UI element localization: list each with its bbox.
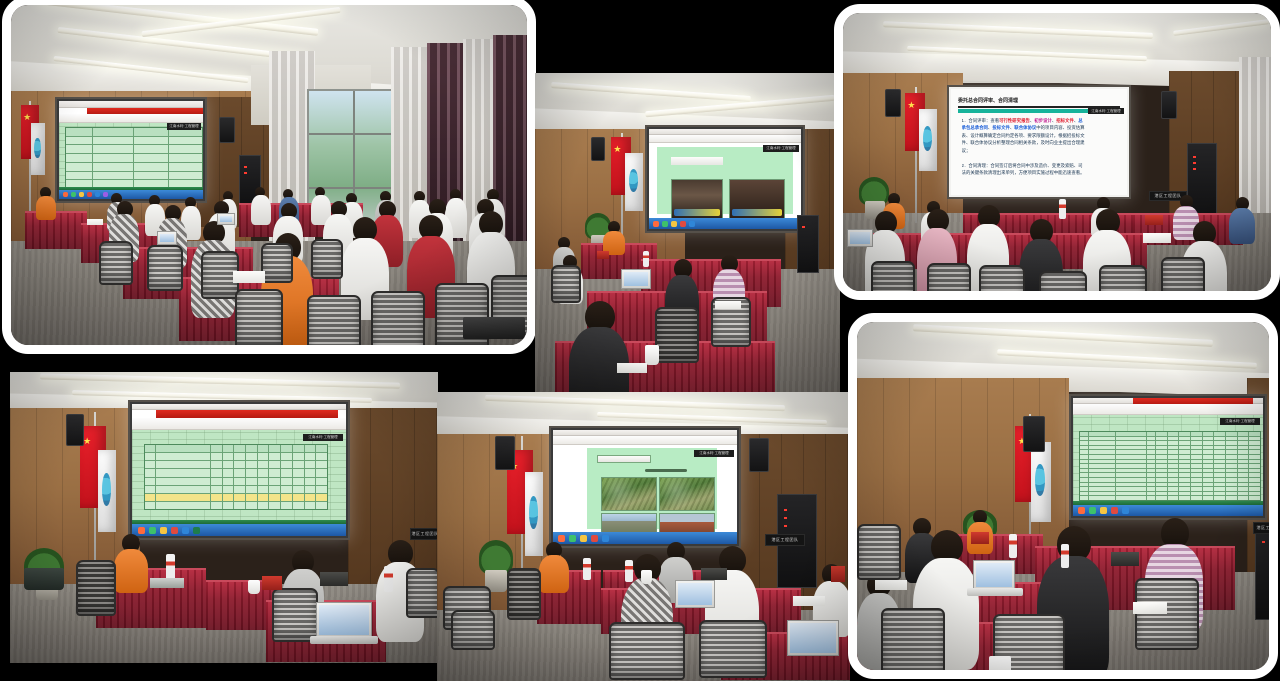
water-bottle	[1059, 199, 1066, 219]
photo-caption-strip	[732, 209, 782, 216]
taskbar-icon[interactable]	[580, 535, 587, 542]
photo-top-center[interactable]: 江南水利·工程管理	[535, 73, 840, 398]
excel-grid	[1073, 415, 1263, 509]
taskbar-icon[interactable]	[671, 221, 677, 227]
notebook	[875, 580, 907, 590]
chair	[655, 307, 699, 363]
notebook	[1143, 233, 1171, 243]
organization-flag	[31, 123, 45, 175]
attendee-foreground	[569, 301, 629, 398]
chair	[507, 568, 541, 620]
photo-caption-strip	[674, 209, 720, 216]
taskbar-icon[interactable]	[63, 192, 68, 197]
torso	[36, 196, 56, 220]
cup	[645, 345, 659, 365]
chair	[235, 289, 283, 345]
chair	[406, 568, 438, 618]
org-flag-logo	[629, 169, 638, 192]
taskbar-icon[interactable]	[171, 527, 178, 534]
slide	[649, 143, 801, 218]
organization-flag	[919, 109, 937, 171]
attendee	[251, 187, 271, 225]
bullet-line: 承包总承合同、投标文件、联合体协议中的项目内容、投资估算	[962, 124, 1119, 131]
screen-content: 江南水利·工程管理	[59, 101, 203, 199]
taskbar-icon[interactable]	[591, 535, 598, 542]
notebook	[617, 363, 647, 373]
excel-data-table	[1079, 431, 1261, 501]
screen-corner-tag: 江南水利·工程管理	[1220, 418, 1260, 425]
slide	[553, 445, 737, 532]
slide-photo-aerial	[601, 477, 657, 511]
scene-bottom-left: 江南水利·工程管理 港区工程团队	[10, 372, 438, 663]
chair	[979, 265, 1025, 291]
taskbar-icon[interactable]	[680, 221, 686, 227]
chair	[307, 295, 361, 345]
water-bottle	[643, 251, 649, 267]
bullet-line: 2．合同清理：合同签订后将合同中涉及造价、变更及索赔、司	[962, 162, 1119, 169]
ceiling-speaker	[495, 436, 515, 470]
org-flag-logo	[34, 138, 41, 159]
excel-grid	[132, 430, 346, 524]
laptop	[157, 231, 177, 245]
slide-logo-box	[671, 157, 723, 165]
tissue-box	[320, 572, 348, 586]
screen-corner-tag: 江南水利·工程管理	[303, 434, 343, 441]
presenter	[114, 534, 148, 590]
taskbar[interactable]	[132, 524, 346, 536]
screen-content: 江南水利·工程管理	[132, 404, 346, 536]
taskbar-icon[interactable]	[1122, 507, 1129, 514]
scene-top-right: 委托总合同评审、合同清理 1．合同评审：查看可行性研究报告、初步设计、招标文件、…	[843, 13, 1271, 291]
taskbar-icon[interactable]	[138, 527, 145, 534]
presenter	[603, 221, 625, 253]
bullet-line	[962, 154, 1119, 162]
projection-screen[interactable]: 江南水利·工程管理	[55, 97, 207, 203]
side-cabinet	[24, 568, 64, 590]
slide-title-text	[645, 469, 687, 472]
photo-bottom-center[interactable]: 江南水利·工程管理 港区工程团队	[437, 392, 850, 681]
taskbar-icon[interactable]	[1089, 507, 1096, 514]
org-flag-logo	[923, 126, 932, 151]
presenter	[35, 187, 57, 219]
chair	[261, 243, 293, 283]
taskbar-icon[interactable]	[653, 221, 659, 227]
notebook	[715, 301, 741, 309]
slide-photo	[671, 179, 723, 219]
bullet-line: 表、设计概算确定合同约定各项、要求限额设计，根据招投标文	[962, 132, 1119, 139]
taskbar-icon[interactable]	[558, 535, 565, 542]
screen-content: 江南水利·工程管理	[1073, 398, 1263, 516]
slide-title-box	[715, 169, 751, 174]
chair	[699, 620, 767, 678]
ceiling-speaker	[591, 137, 605, 161]
taskbar[interactable]	[649, 218, 801, 229]
chair	[927, 263, 971, 291]
laptop	[316, 602, 372, 638]
taskbar-icon[interactable]	[1078, 507, 1085, 514]
organization-flag	[1031, 442, 1051, 522]
projection-screen[interactable]: 委托总合同评审、合同清理 1．合同评审：查看可行性研究报告、初步设计、招标文件、…	[947, 85, 1131, 199]
excel-checklist-table	[144, 444, 328, 510]
plant	[479, 540, 513, 574]
notebook	[87, 219, 103, 225]
screen-content: 江南水利·工程管理	[553, 430, 737, 544]
tissue-box	[1111, 552, 1139, 566]
projection-screen[interactable]: 江南水利·工程管理	[1069, 394, 1267, 520]
app-ribbon	[553, 436, 737, 445]
ppt-slide: 委托总合同评审、合同清理 1．合同评审：查看可行性研究报告、初步设计、招标文件、…	[951, 89, 1127, 195]
app-ribbon	[649, 135, 801, 143]
screen-corner-tag: 江南水利·工程管理	[694, 450, 734, 457]
projection-screen[interactable]: 江南水利·工程管理	[549, 426, 741, 548]
organization-flag	[98, 450, 116, 532]
chair	[311, 239, 343, 279]
photo-bottom-right[interactable]: 江南水利·工程管理 港区工程团队	[848, 313, 1278, 679]
projection-screen[interactable]: 江南水利·工程管理	[645, 125, 805, 233]
water-bottle	[166, 554, 175, 580]
taskbar-icon[interactable]	[87, 192, 92, 197]
excel-ribbon	[59, 114, 203, 123]
slide-logo-box	[597, 455, 651, 463]
laptop	[787, 620, 839, 656]
ceiling-speaker	[749, 438, 769, 472]
laptop	[973, 560, 1015, 590]
projection-screen[interactable]: 江南水利·工程管理	[128, 400, 350, 540]
taskbar-icon[interactable]	[193, 527, 200, 534]
photo-bottom-left[interactable]: 江南水利·工程管理 港区工程团队	[10, 372, 438, 663]
water-bottle	[625, 560, 633, 582]
laptop-keyboard	[967, 588, 1023, 596]
taskbar-icon[interactable]	[1100, 507, 1107, 514]
bullet-line: 1．合同评审：查看可行性研究报告、初步设计、招标文件、总	[962, 117, 1119, 124]
slide-body: 1．合同评审：查看可行性研究报告、初步设计、招标文件、总 承包总承合同、投标文件…	[962, 117, 1119, 177]
taskbar-icon[interactable]	[182, 527, 189, 534]
water-bottle	[1061, 544, 1069, 568]
av-rack	[797, 215, 819, 273]
excel-red-banner	[156, 410, 338, 418]
chair	[609, 622, 685, 680]
taskbar[interactable]	[1073, 505, 1263, 516]
chair	[1039, 271, 1087, 291]
taskbar-icon[interactable]	[662, 221, 668, 227]
taskbar-icon[interactable]	[79, 192, 84, 197]
screen-corner-tag: 江南水利·工程管理	[763, 145, 799, 152]
chair	[1135, 578, 1199, 650]
wall-sign: 港区工程团队	[1253, 522, 1269, 534]
chair	[881, 608, 945, 670]
notebook	[1133, 602, 1167, 614]
excel-ribbon	[132, 418, 346, 430]
scene-top-center: 江南水利·工程管理	[535, 73, 840, 398]
taskbar-icon[interactable]	[71, 192, 76, 197]
av-rack	[1255, 526, 1269, 620]
photo-collage: 江南水利·工程管理	[0, 0, 1280, 681]
taskbar-icon[interactable]	[95, 192, 100, 197]
screen-corner-tag: 江南水利·工程管理	[167, 123, 201, 130]
wall-sign: 港区工程团队	[410, 528, 438, 540]
chair	[1161, 257, 1205, 291]
water-bottle	[384, 566, 393, 592]
water-bottle	[1009, 534, 1017, 558]
chair	[857, 524, 901, 580]
excel-titlebar	[59, 101, 203, 108]
bullet-line: 议；	[962, 147, 1119, 154]
chair	[451, 610, 495, 650]
scene-bottom-center: 江南水利·工程管理 港区工程团队	[437, 392, 850, 681]
laptop	[217, 213, 235, 225]
excel-ribbon	[1073, 404, 1263, 415]
window-mullion	[309, 133, 395, 135]
wall-sign: 港区工程团队	[765, 534, 805, 546]
org-flag-logo	[529, 496, 538, 530]
chair	[551, 265, 581, 303]
nameplate	[971, 532, 989, 544]
chair	[871, 261, 915, 291]
attendee	[1229, 197, 1255, 241]
laptop	[847, 229, 873, 247]
org-flag-logo	[102, 473, 111, 506]
chair	[99, 241, 133, 285]
org-flag-logo	[1035, 464, 1045, 496]
scene-top-left: 江南水利·工程管理	[11, 5, 527, 345]
taskbar-icon[interactable]	[569, 535, 576, 542]
taskbar-icon[interactable]	[149, 527, 156, 534]
photo-top-left[interactable]: 江南水利·工程管理	[2, 0, 536, 354]
chair	[147, 245, 183, 291]
excel-table	[65, 127, 203, 189]
nameplate	[262, 576, 282, 590]
ceiling-speaker	[885, 89, 901, 117]
notebook	[793, 596, 825, 606]
bullet-line: 件、联合体协议分析整理合同相关条款，及时向业主提出合理建	[962, 139, 1119, 146]
ceiling-speaker	[219, 117, 235, 143]
nameplate	[597, 251, 609, 259]
cup	[641, 570, 652, 584]
ceiling-speaker	[1161, 91, 1177, 119]
keyboard	[150, 578, 184, 588]
screen-content: 委托总合同评审、合同清理 1．合同评审：查看可行性研究报告、初步设计、招标文件、…	[951, 89, 1127, 195]
laptop-keyboard	[310, 636, 378, 644]
ceiling-speaker	[66, 414, 84, 446]
chair	[1099, 265, 1147, 291]
slide-photo	[729, 179, 785, 219]
taskbar-icon[interactable]	[602, 535, 609, 542]
chair	[371, 291, 425, 345]
screen-content: 江南水利·工程管理	[649, 129, 801, 229]
nameplate	[1145, 215, 1163, 225]
cup	[248, 580, 260, 594]
photo-top-right[interactable]: 委托总合同评审、合同清理 1．合同评审：查看可行性研究报告、初步设计、招标文件、…	[834, 4, 1280, 300]
bullet-line: 法的关键条款清理出来单列，方便项目实施过程中能迅速查看。	[962, 169, 1119, 176]
scene-bottom-right: 江南水利·工程管理 港区工程团队	[857, 322, 1269, 670]
excel-grid	[59, 123, 203, 197]
tissue-box	[701, 568, 727, 580]
screen-corner-tag: 江南水利·工程管理	[1088, 108, 1124, 114]
water-bottle	[583, 558, 591, 580]
cup	[989, 656, 1011, 670]
chair	[76, 560, 116, 616]
slide-title: 委托总合同评审、合同清理	[958, 97, 1120, 108]
slide-photo-aerial	[659, 477, 715, 511]
ceiling-speaker	[1023, 416, 1045, 452]
taskbar-icon[interactable]	[160, 527, 167, 534]
taskbar-icon[interactable]	[689, 221, 695, 227]
taskbar[interactable]	[553, 532, 737, 544]
chair	[272, 588, 318, 642]
nameplate	[831, 566, 845, 582]
laptop-bag	[463, 317, 525, 339]
organization-flag	[625, 153, 643, 211]
laptop	[675, 580, 715, 608]
notebook	[233, 271, 265, 283]
presenter	[539, 542, 569, 590]
taskbar-icon[interactable]	[1111, 507, 1118, 514]
laptop	[621, 269, 651, 289]
